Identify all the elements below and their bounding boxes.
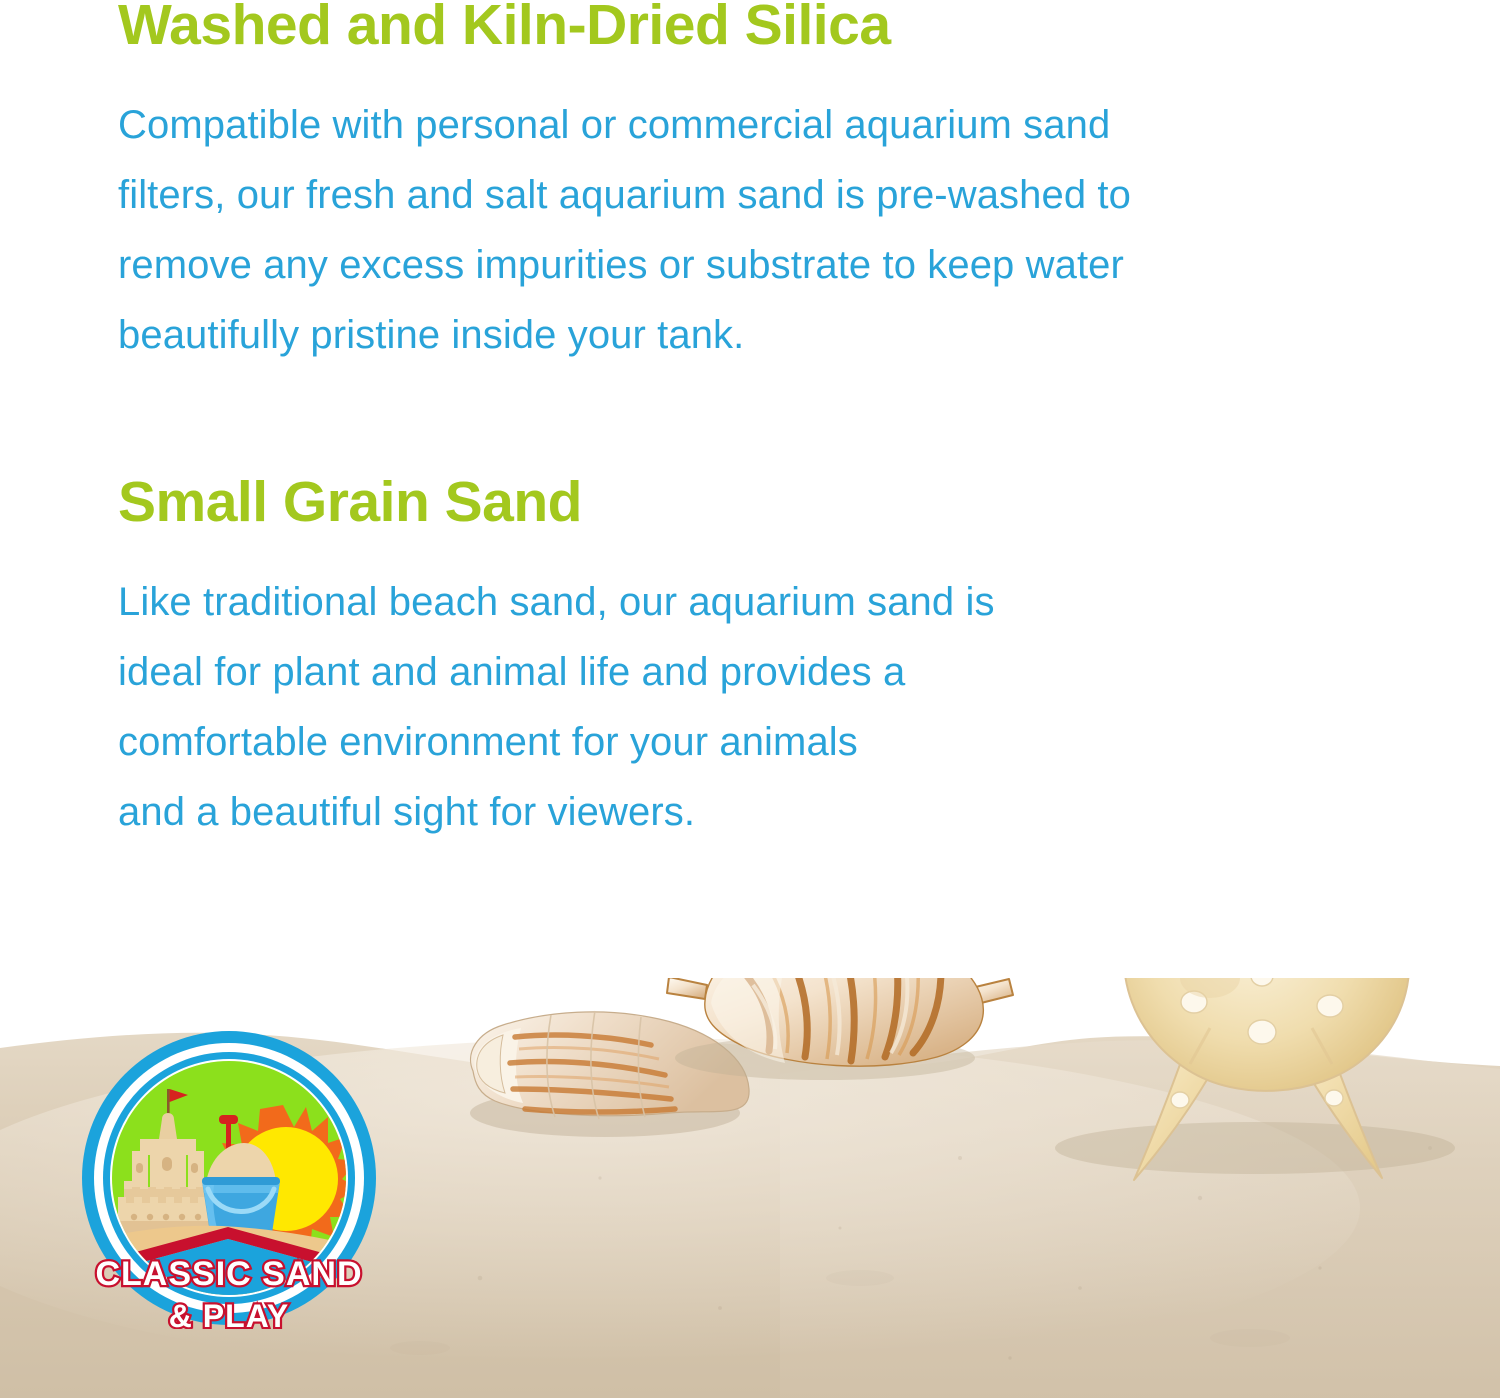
- sand-mound-right: [780, 1040, 1500, 1398]
- body-line: and a beautiful sight for viewers.: [118, 777, 995, 847]
- body-line: filters, our fresh and salt aquarium san…: [118, 160, 1131, 230]
- spiky-conch-shell: [667, 978, 1013, 1080]
- body-line: remove any excess impurities or substrat…: [118, 230, 1131, 300]
- feature-section-small-grain-sand: Small Grain Sand Like traditional beach …: [118, 473, 995, 847]
- product-feature-panel: Washed and Kiln-Dried Silica Compatible …: [0, 0, 1500, 1398]
- body-line: beautifully pristine inside your tank.: [118, 300, 1131, 370]
- section-heading-1: Washed and Kiln-Dried Silica: [118, 0, 1131, 54]
- body-line: ideal for plant and animal life and prov…: [118, 637, 995, 707]
- body-line: comfortable environment for your animals: [118, 707, 995, 777]
- starfish-arm-lower-right: [1284, 1008, 1382, 1178]
- section-body-1: Compatible with personal or commercial a…: [118, 90, 1131, 370]
- conch-spikes: [667, 978, 1013, 1005]
- feature-section-washed-kiln-dried-silica: Washed and Kiln-Dried Silica Compatible …: [118, 0, 1131, 370]
- section-heading-2: Small Grain Sand: [118, 473, 995, 531]
- body-line: Compatible with personal or commercial a…: [118, 90, 1131, 160]
- brand-logo: CLASSIC SAND & PLAY: [78, 1027, 380, 1329]
- starfish-arm-lower-left: [1134, 1008, 1234, 1180]
- body-line: Like traditional beach sand, our aquariu…: [118, 567, 995, 637]
- starfish-disc: [1124, 978, 1409, 1091]
- starfish-knobs: [1081, 978, 1431, 1108]
- starfish: [994, 978, 1500, 1180]
- spiral-shell: [470, 1011, 749, 1137]
- logo-wordmark-line2: & PLAY: [169, 1298, 289, 1329]
- section-body-2: Like traditional beach sand, our aquariu…: [118, 567, 995, 847]
- logo-wordmark-line1: CLASSIC SAND: [95, 1255, 362, 1293]
